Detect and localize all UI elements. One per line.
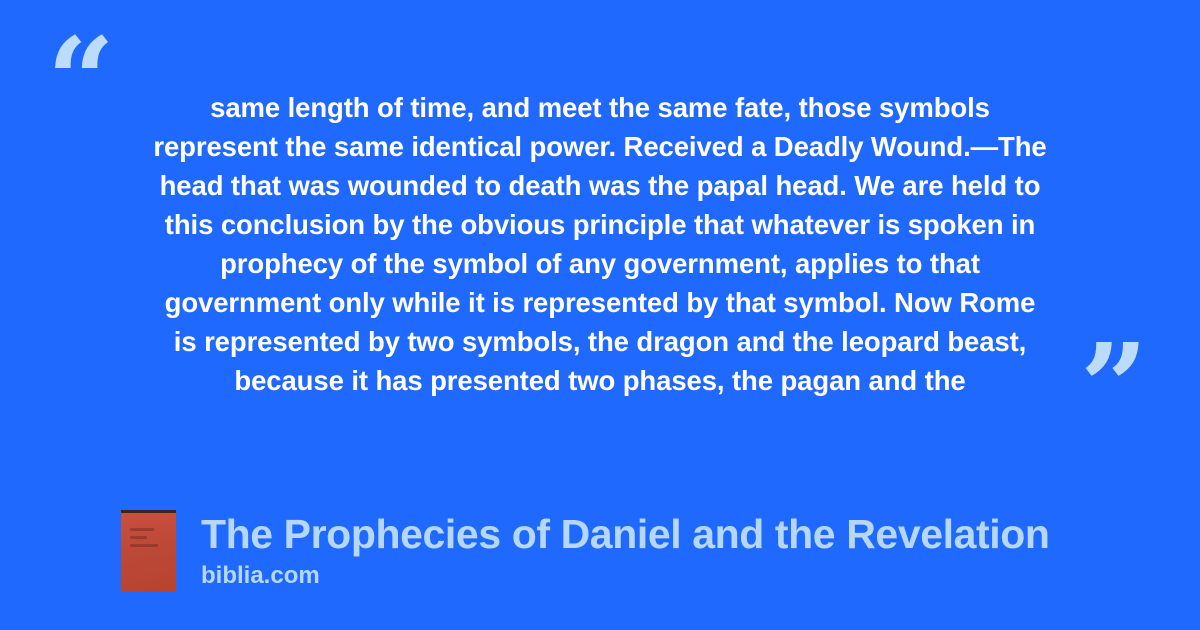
quote-block: “ same length of time, and meet the same…: [0, 0, 1200, 440]
opening-quote-icon: “: [47, 22, 113, 140]
quote-text: same length of time, and meet the same f…: [108, 88, 1092, 400]
closing-quote-icon: ”: [1080, 328, 1146, 446]
book-cover-title-line: [130, 528, 154, 531]
quote-card: “ same length of time, and meet the same…: [0, 0, 1200, 630]
quote-line: same length of time, and meet the same f…: [108, 88, 1092, 127]
quote-line: this conclusion by the obvious principle…: [108, 205, 1092, 244]
quote-line: because it has presented two phases, the…: [108, 361, 1092, 400]
book-cover-title-line: [130, 544, 158, 547]
book-title: The Prophecies of Daniel and the Revelat…: [201, 510, 1050, 558]
attribution-text: The Prophecies of Daniel and the Revelat…: [201, 510, 1050, 590]
quote-line: prophecy of the symbol of any government…: [108, 244, 1092, 283]
book-cover-icon: [121, 510, 176, 592]
attribution-bar: The Prophecies of Daniel and the Revelat…: [121, 510, 1050, 592]
book-cover-title-line: [130, 536, 147, 539]
quote-line: represent the same identical power. Rece…: [108, 127, 1092, 166]
quote-line: government only while it is represented …: [108, 283, 1092, 322]
quote-line: head that was wounded to death was the p…: [108, 166, 1092, 205]
site-name: biblia.com: [201, 562, 1050, 590]
quote-line: is represented by two symbols, the drago…: [108, 322, 1092, 361]
